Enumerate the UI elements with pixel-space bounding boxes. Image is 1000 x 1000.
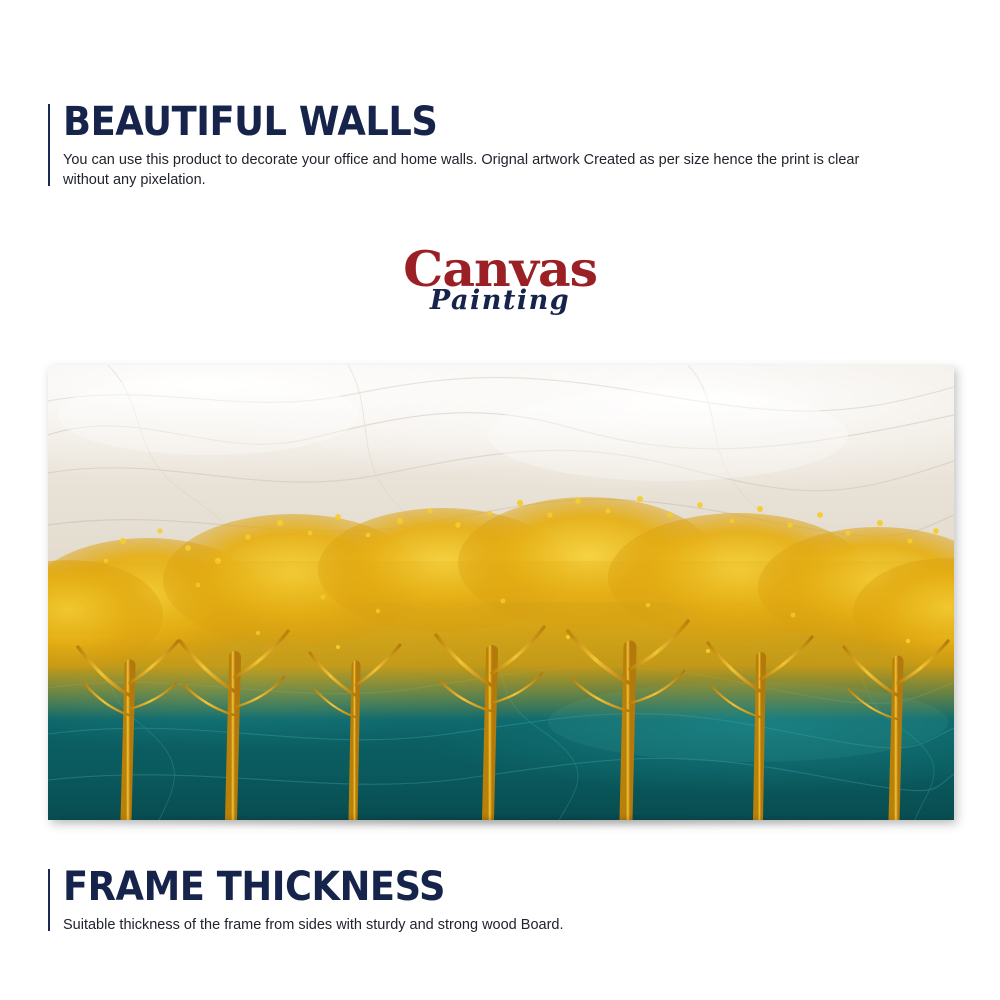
section-title: FRAME THICKNESS <box>63 865 840 909</box>
brand-logo: Canvas Painting <box>0 243 1000 343</box>
feature-divider-bar <box>48 869 50 931</box>
feature-beautiful-walls: BEAUTIFUL WALLS You can use this product… <box>48 100 908 190</box>
brand-logo-main-text: Canvas <box>403 243 597 295</box>
feature-divider-bar <box>48 104 50 186</box>
feature-description: Suitable thickness of the frame from sid… <box>63 915 898 935</box>
feature-description: You can use this product to decorate you… <box>63 150 898 190</box>
feature-frame-thickness: FRAME THICKNESS Suitable thickness of th… <box>48 865 908 935</box>
artwork-image <box>48 365 954 820</box>
page-title: BEAUTIFUL WALLS <box>63 100 840 144</box>
artwork-drop-shadow <box>60 818 950 828</box>
golden-trees-layer <box>48 365 954 820</box>
